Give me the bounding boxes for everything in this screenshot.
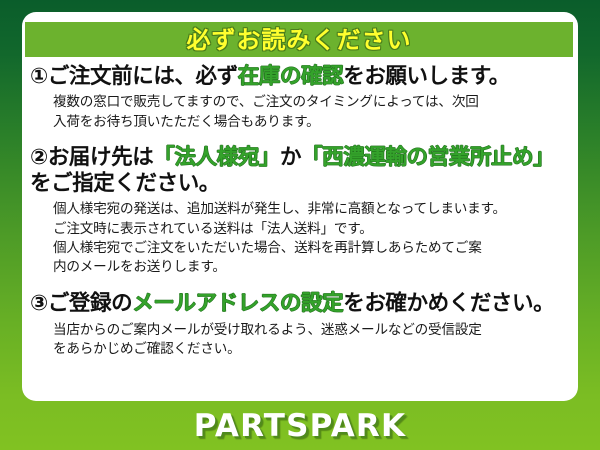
banner-title: 必ずお読みください xyxy=(187,28,412,52)
notice-item-2-marker: ② xyxy=(30,145,48,171)
notice-item-2: ②お届け先は「法人様宛」か「西濃運輸の営業所止め」をご指定ください。 個人様宅宛… xyxy=(22,145,578,278)
notice-item-1-heading: ①ご注文前には、必ず在庫の確認をお願いします。 xyxy=(30,64,572,90)
notice-item-3-heading-before: ご登録の xyxy=(48,291,132,316)
title-banner: 必ずお読みください xyxy=(25,22,573,57)
notice-item-3-body: 当店からのご案内メールが受け取れるよう、迷惑メールなどの受信設定 をあらかじめご… xyxy=(53,321,572,360)
partspark-logo: PARTSPARK xyxy=(194,408,406,444)
notice-item-2-heading-highlight-2: 「西濃運輸の営業所止め」 xyxy=(301,145,554,170)
notice-banner: 必ずお読みください ①ご注文前には、必ず在庫の確認をお願いします。 複数の窓口で… xyxy=(0,0,600,450)
notice-item-1-heading-after: をお願いします。 xyxy=(343,64,510,89)
notice-item-3: ③ご登録のメールアドレスの設定をお確かめください。 当店からのご案内メールが受け… xyxy=(22,291,578,359)
notice-item-3-marker: ③ xyxy=(30,291,48,317)
notice-item-1-heading-highlight: 在庫の確認 xyxy=(238,64,344,89)
notice-item-2-body: 個人様宅宛の発送は、追加送料が発生し、非常に高額となってしまいます。 ご注文時に… xyxy=(53,200,572,277)
notice-item-2-heading-after: をご指定ください。 xyxy=(30,171,220,196)
notice-item-3-heading-highlight: メールアドレスの設定 xyxy=(132,291,343,316)
notice-card: 必ずお読みください ①ご注文前には、必ず在庫の確認をお願いします。 複数の窓口で… xyxy=(22,12,578,401)
notice-item-1-marker: ① xyxy=(30,64,48,90)
footer-logo-bar: PARTSPARK xyxy=(0,401,600,450)
notice-item-3-heading-after: をお確かめください。 xyxy=(343,291,554,316)
notice-item-2-heading: ②お届け先は「法人様宛」か「西濃運輸の営業所止め」をご指定ください。 xyxy=(30,145,572,197)
notice-item-3-heading: ③ご登録のメールアドレスの設定をお確かめください。 xyxy=(30,291,572,317)
notice-item-2-heading-middle: か xyxy=(280,145,301,170)
notice-item-1-body: 複数の窓口で販売してますので、ご注文のタイミングによっては、次回 入荷をお待ち頂… xyxy=(53,93,572,132)
notice-item-2-heading-highlight: 「法人様宛」 xyxy=(153,145,280,170)
notice-item-1-heading-before: ご注文前には、必ず xyxy=(48,64,238,89)
notice-item-1: ①ご注文前には、必ず在庫の確認をお願いします。 複数の窓口で販売してますので、ご… xyxy=(22,64,578,132)
notice-item-2-heading-before: お届け先は xyxy=(48,145,154,170)
notice-items-list: ①ご注文前には、必ず在庫の確認をお願いします。 複数の窓口で販売してますので、ご… xyxy=(22,64,578,359)
